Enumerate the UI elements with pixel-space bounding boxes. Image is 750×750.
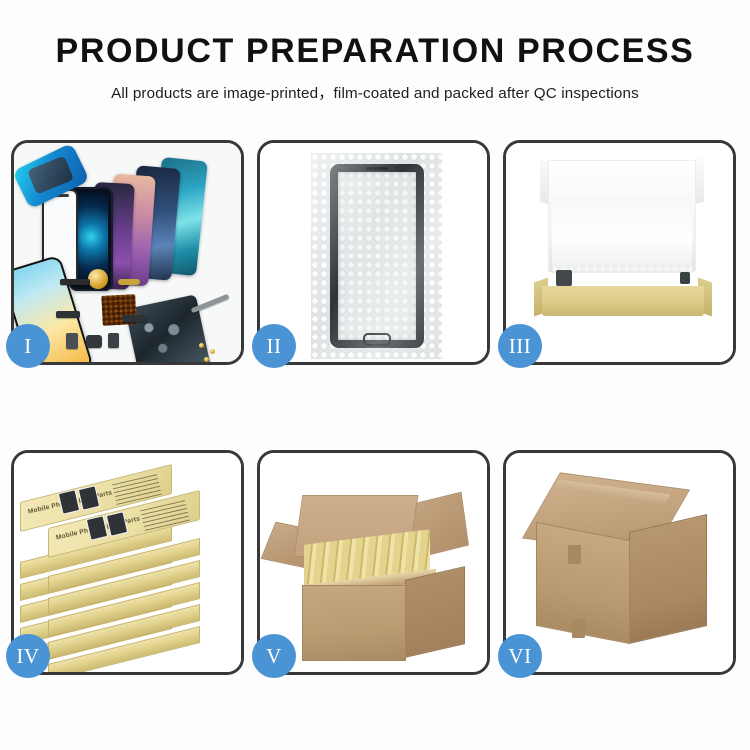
gold-component-icon xyxy=(88,269,108,289)
bubble-wrap-illustration xyxy=(260,143,487,362)
carton-side-face-icon xyxy=(405,566,465,658)
phones-and-parts-illustration xyxy=(14,143,241,362)
page-subtitle: All products are image-printed，film-coat… xyxy=(0,81,750,103)
step-badge-2: II xyxy=(252,324,296,368)
screw-2-icon xyxy=(210,349,215,354)
sealed-carton-right-face-icon xyxy=(629,514,707,644)
speaker-icon xyxy=(86,335,102,348)
step-badge-5: V xyxy=(252,634,296,678)
step-image-4: Mobile Phone Spare Parts Mobile Phone Sp… xyxy=(14,453,241,672)
step-image-3 xyxy=(506,143,733,362)
step-image-6 xyxy=(506,453,733,672)
box-inner-surface-icon xyxy=(552,195,692,273)
step-panel-5[interactable]: V xyxy=(257,450,490,675)
product-preparation-infographic: PRODUCT PREPARATION PROCESS All products… xyxy=(0,0,750,750)
step-panel-4[interactable]: Mobile Phone Spare Parts Mobile Phone Sp… xyxy=(11,450,244,675)
screw-3-icon xyxy=(204,357,209,362)
flex-cable-icon xyxy=(60,279,90,285)
sim-tray-icon xyxy=(66,333,78,349)
sealed-carton-illustration xyxy=(506,453,733,672)
step-badge-1: I xyxy=(6,324,50,368)
steps-grid: I II xyxy=(11,140,739,675)
box-front-face-icon xyxy=(542,286,704,316)
bubble-wrap-sheet-icon xyxy=(311,153,442,359)
home-button-icon xyxy=(363,333,391,346)
step-image-1 xyxy=(14,143,241,362)
small-flex-icon xyxy=(122,315,148,322)
carton-front-face-icon xyxy=(302,585,406,661)
step-badge-6: VI xyxy=(498,634,542,678)
step-image-2 xyxy=(260,143,487,362)
vibrator-flex-icon xyxy=(56,311,80,318)
header: PRODUCT PREPARATION PROCESS All products… xyxy=(0,34,750,103)
page-title: PRODUCT PREPARATION PROCESS xyxy=(0,34,750,70)
carton-handle-notch-bottom-icon xyxy=(572,619,585,638)
stacked-boxes-illustration: Mobile Phone Spare Parts Mobile Phone Sp… xyxy=(14,453,241,672)
single-box-illustration xyxy=(506,143,733,362)
open-carton-illustration xyxy=(260,453,487,672)
step-badge-3: III xyxy=(498,324,542,368)
step-badge-4: IV xyxy=(6,634,50,678)
screw-1-icon xyxy=(199,343,204,348)
step-panel-1[interactable]: I xyxy=(11,140,244,365)
step-panel-6[interactable]: VI xyxy=(503,450,736,675)
button-flex-icon xyxy=(118,279,140,285)
camera-module-icon xyxy=(108,333,119,348)
wrapped-screen-icon xyxy=(330,164,424,348)
step-panel-3[interactable]: III xyxy=(503,140,736,365)
step-image-5 xyxy=(260,453,487,672)
carton-handle-notch-top-icon xyxy=(568,545,581,564)
step-panel-2[interactable]: II xyxy=(257,140,490,365)
